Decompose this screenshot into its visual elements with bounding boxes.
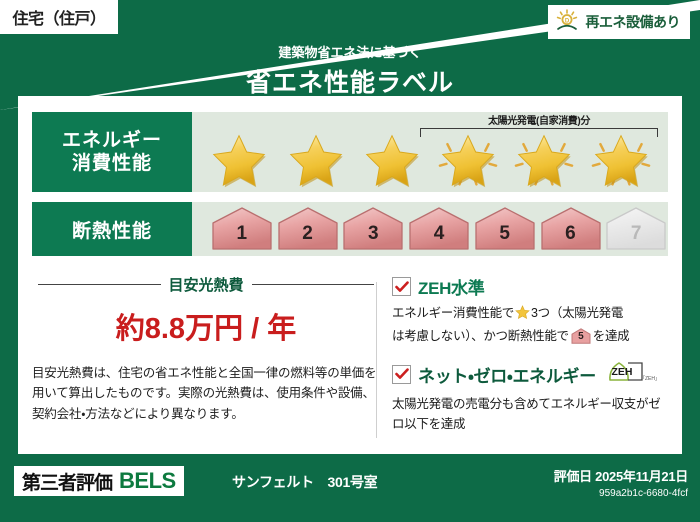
insulation-grade-7: 7 xyxy=(604,206,668,252)
insulation-grade-6: 6 xyxy=(539,206,603,252)
check-icon xyxy=(395,281,409,293)
zeh-standard-body: エネルギー消費性能で3つ（太陽光発電は考慮しない）、かつ断熱性能で5を達成 xyxy=(392,303,668,347)
housing-type-tag: 住宅（住戸） xyxy=(0,0,118,34)
label-card: エネルギー 消費性能 太陽光発電(自家消費)分 xyxy=(18,96,682,454)
insulation-grade-number: 3 xyxy=(368,223,379,252)
svg-text:D: D xyxy=(564,18,569,24)
energy-performance-label: エネルギー 消費性能 xyxy=(32,112,192,192)
evaluation-id: 959a2b1c-6680-4fcf xyxy=(554,488,688,499)
net-zero-energy-block: ネット・ゼロ・エネルギー ZEH 「ZEH」 太陽光発電の売電分も含めてエネルギ… xyxy=(392,359,668,435)
insulation-grade-number: 1 xyxy=(237,223,248,252)
inline-grade-badge: 5 xyxy=(571,328,591,344)
insulation-label-text: 断熱性能 xyxy=(72,216,152,243)
svg-text:「ZEH」: 「ZEH」 xyxy=(640,376,658,382)
vertical-divider xyxy=(376,282,377,438)
insulation-grade-number: 2 xyxy=(302,223,313,252)
utility-cost-heading: 目安光熱費 xyxy=(38,274,374,295)
evaluation-date: 評価日 2025年11月21日 xyxy=(554,466,688,485)
energy-performance-body: 太陽光発電(自家消費)分 xyxy=(192,112,668,192)
energy-label-line1: エネルギー xyxy=(62,129,162,152)
bels-jp-label: 第三者評価 xyxy=(22,468,112,495)
utility-cost-description: 目安光熱費は、住宅の省エネ性能と全国一律の燃料等の単価を用いて算出したものです。… xyxy=(32,363,380,424)
net-zero-header: ネット・ゼロ・エネルギー ZEH 「ZEH」 xyxy=(392,359,668,390)
utility-cost-value: 約8.8万円 / 年 xyxy=(32,305,380,347)
insulation-grade-1: 1 xyxy=(210,206,274,252)
cost-rule-left xyxy=(38,284,161,285)
net-zero-title: ネット・ゼロ・エネルギー xyxy=(418,362,596,387)
label-lower-section: 目安光熱費 約8.8万円 / 年 目安光熱費は、住宅の省エネ性能と全国一律の燃料… xyxy=(18,274,682,452)
star-5 xyxy=(511,132,577,190)
utility-cost-title: 目安光熱費 xyxy=(169,274,244,295)
page-title: 省エネ性能ラベル xyxy=(0,63,700,99)
insulation-grade-number: 5 xyxy=(499,223,510,252)
energy-label-line2: 消費性能 xyxy=(72,152,152,175)
label-footer: 第三者評価 BELS サンフェルト 301号室 評価日 2025年11月21日 … xyxy=(0,454,700,522)
star-2 xyxy=(283,132,349,190)
inline-grade-number: 5 xyxy=(571,328,591,344)
check-icon xyxy=(395,368,409,380)
star-3 xyxy=(359,132,425,190)
certification-panel: ZEH水準 エネルギー消費性能で3つ（太陽光発電は考慮しない）、かつ断熱性能で5… xyxy=(392,274,668,446)
net-zero-body: 太陽光発電の売電分も含めてエネルギー収支がゼロ以下を達成 xyxy=(392,394,668,435)
star-6 xyxy=(588,132,654,190)
insulation-performance-row: 断熱性能 1 2 xyxy=(32,202,668,256)
net-zero-checkbox[interactable] xyxy=(392,365,411,384)
solar-sun-icon: D xyxy=(554,8,580,37)
bels-en-label: BELS xyxy=(119,468,176,494)
insulation-grade-2: 2 xyxy=(276,206,340,252)
property-unit-name: サンフェルト 301号室 xyxy=(232,472,377,492)
renewable-badge-label: 再エネ設備あり xyxy=(586,12,681,32)
zeh-standard-checkbox[interactable] xyxy=(392,277,411,296)
energy-star-rating xyxy=(192,132,668,190)
zeh-standard-header: ZEH水準 xyxy=(392,274,668,299)
zeh-logo-icon: ZEH 「ZEH」 xyxy=(606,359,658,390)
renewable-equipment-badge: D 再エネ設備あり xyxy=(548,5,691,39)
svg-text:ZEH: ZEH xyxy=(611,366,632,378)
zeh-body-part2: 3つ（太陽光発電 xyxy=(531,306,623,320)
energy-performance-row: エネルギー 消費性能 太陽光発電(自家消費)分 xyxy=(32,112,668,192)
energy-label-root: 住宅（住戸） D 再エネ設備あり 建築物省エネ法に基づく 省エネ性能ラベル xyxy=(0,0,700,522)
bels-badge: 第三者評価 BELS xyxy=(14,466,184,496)
insulation-grade-5: 5 xyxy=(473,206,537,252)
cost-rule-right xyxy=(252,284,375,285)
insulation-performance-label: 断熱性能 xyxy=(32,202,192,256)
insulation-grade-number: 7 xyxy=(631,223,642,252)
star-4 xyxy=(435,132,501,190)
solar-note-text: 太陽光発電(自家消費)分 xyxy=(420,112,658,127)
insulation-grade-4: 4 xyxy=(407,206,471,252)
insulation-grade-scale: 1 2 3 xyxy=(192,202,668,256)
zeh-body-part4: を達成 xyxy=(593,329,630,343)
page-title-block: 建築物省エネ法に基づく 省エネ性能ラベル xyxy=(0,42,700,99)
zeh-body-part1: エネルギー消費性能で xyxy=(392,306,514,320)
insulation-performance-body: 1 2 3 xyxy=(192,202,668,256)
evaluation-info: 評価日 2025年11月21日 959a2b1c-6680-4fcf xyxy=(554,466,688,499)
zeh-standard-title: ZEH水準 xyxy=(418,274,485,299)
zeh-standard-block: ZEH水準 エネルギー消費性能で3つ（太陽光発電は考慮しない）、かつ断熱性能で5… xyxy=(392,274,668,347)
inline-star-icon xyxy=(515,309,530,323)
housing-type-label: 住宅（住戸） xyxy=(12,5,105,29)
insulation-grade-3: 3 xyxy=(341,206,405,252)
insulation-grade-number: 6 xyxy=(565,223,576,252)
page-subtitle: 建築物省エネ法に基づく xyxy=(0,42,700,61)
insulation-grade-number: 4 xyxy=(434,223,445,252)
zeh-body-part3: は考慮しない）、かつ断熱性能で xyxy=(392,329,569,343)
star-1 xyxy=(206,132,272,190)
utility-cost-panel: 目安光熱費 約8.8万円 / 年 目安光熱費は、住宅の省エネ性能と全国一律の燃料… xyxy=(32,274,380,424)
